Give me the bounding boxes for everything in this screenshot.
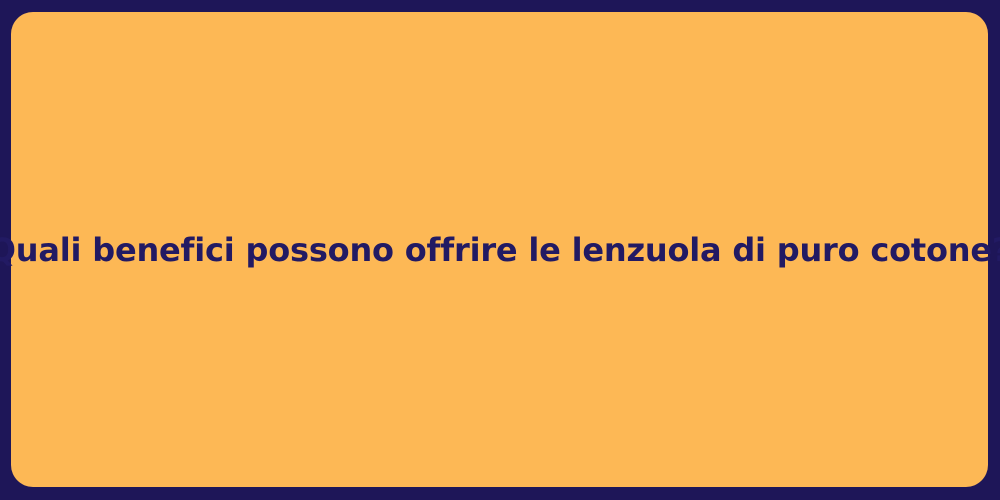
question-banner-card: Quali benefici possono offrire le lenzuo… xyxy=(0,0,1000,500)
banner-headline: Quali benefici possono offrire le lenzuo… xyxy=(0,230,1000,270)
banner-panel: Quali benefici possono offrire le lenzuo… xyxy=(11,12,988,487)
